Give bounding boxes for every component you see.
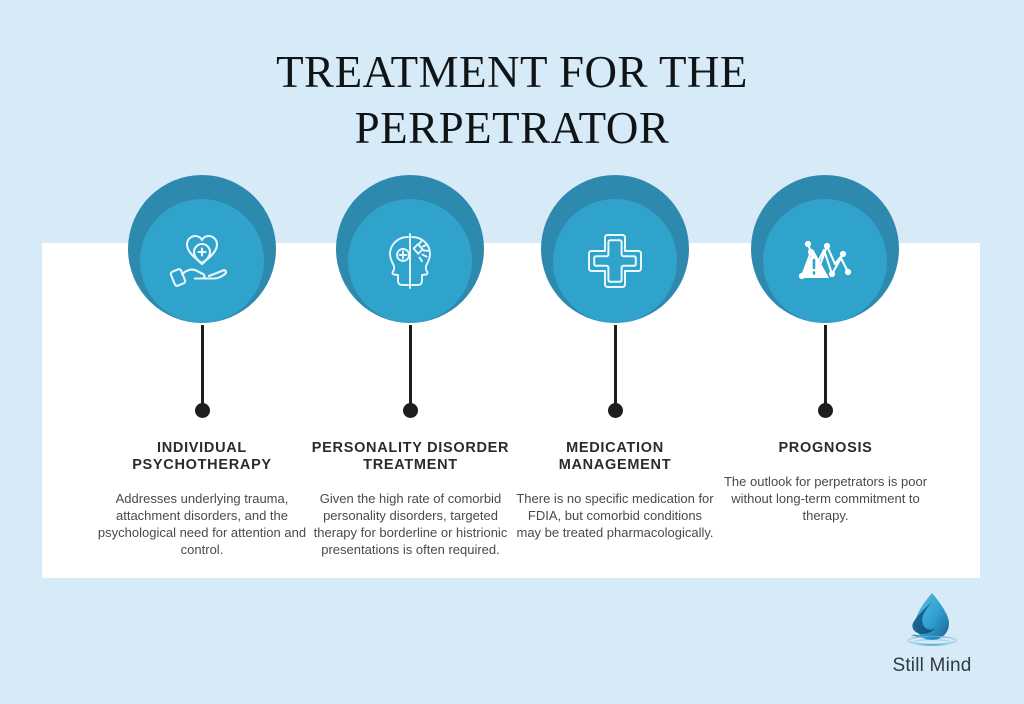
step-inner-circle-4 bbox=[763, 199, 887, 323]
connector-line-1 bbox=[201, 325, 204, 411]
step-inner-circle-2 bbox=[348, 199, 472, 323]
step-node-3 bbox=[525, 175, 705, 350]
step-connector-2 bbox=[320, 325, 500, 420]
step-node-4 bbox=[735, 175, 915, 350]
warning-trend-chart-icon bbox=[794, 230, 856, 292]
step-body-4: The outlook for perpetrators is poor wit… bbox=[723, 473, 928, 524]
infographic-canvas: TREATMENT FOR THE PERPETRATOR bbox=[0, 0, 1024, 704]
water-droplet-ripple-icon bbox=[872, 590, 992, 653]
step-text-1: INDIVIDUAL PSYCHOTHERAPY Addresses under… bbox=[97, 440, 307, 558]
connector-line-2 bbox=[409, 325, 412, 411]
step-text-4: PROGNOSIS The outlook for perpetrators i… bbox=[723, 440, 928, 524]
step-heading-1-line-2: PSYCHOTHERAPY bbox=[132, 457, 272, 473]
step-heading-4-line-1: PROGNOSIS bbox=[778, 440, 872, 456]
step-heading-2: PERSONALITY DISORDER TREATMENT bbox=[303, 440, 518, 474]
step-connector-4 bbox=[735, 325, 915, 420]
brand-logo: Still Mind bbox=[872, 590, 992, 672]
step-heading-4: PROGNOSIS bbox=[723, 440, 928, 457]
step-heading-2-line-1: PERSONALITY DISORDER bbox=[312, 440, 509, 456]
connector-dot-1 bbox=[195, 403, 210, 418]
step-heading-1-line-1: INDIVIDUAL bbox=[157, 440, 247, 456]
step-heading-3-line-1: MEDICATION bbox=[566, 440, 664, 456]
hand-holding-heart-cross-icon bbox=[169, 230, 235, 292]
connector-dot-4 bbox=[818, 403, 833, 418]
brand-wordmark: Still Mind bbox=[872, 655, 992, 677]
step-inner-circle-3 bbox=[553, 199, 677, 323]
connector-dot-2 bbox=[403, 403, 418, 418]
step-inner-circle-1 bbox=[140, 199, 264, 323]
step-text-3: MEDICATION MANAGEMENT There is no specif… bbox=[515, 440, 715, 541]
connector-dot-3 bbox=[608, 403, 623, 418]
split-head-profiles-icon bbox=[377, 230, 443, 292]
step-body-3: There is no specific medication for FDIA… bbox=[515, 490, 715, 541]
step-heading-3-line-2: MANAGEMENT bbox=[559, 457, 672, 473]
page-title-line-2: PERPETRATOR bbox=[0, 100, 1024, 156]
connector-line-3 bbox=[614, 325, 617, 411]
page-title-line-1: TREATMENT FOR THE bbox=[0, 44, 1024, 100]
step-body-1: Addresses underlying trauma, attachment … bbox=[97, 490, 307, 558]
step-node-2 bbox=[320, 175, 500, 350]
medical-cross-icon bbox=[583, 229, 647, 293]
step-text-2: PERSONALITY DISORDER TREATMENT Given the… bbox=[303, 440, 518, 558]
step-heading-3: MEDICATION MANAGEMENT bbox=[515, 440, 715, 474]
step-body-2: Given the high rate of comorbid personal… bbox=[303, 490, 518, 558]
step-node-1 bbox=[112, 175, 292, 350]
connector-line-4 bbox=[824, 325, 827, 411]
step-heading-1: INDIVIDUAL PSYCHOTHERAPY bbox=[97, 440, 307, 474]
step-heading-2-line-2: TREATMENT bbox=[363, 457, 458, 473]
step-connector-3 bbox=[525, 325, 705, 420]
step-connector-1 bbox=[112, 325, 292, 420]
page-title: TREATMENT FOR THE PERPETRATOR bbox=[0, 44, 1024, 156]
